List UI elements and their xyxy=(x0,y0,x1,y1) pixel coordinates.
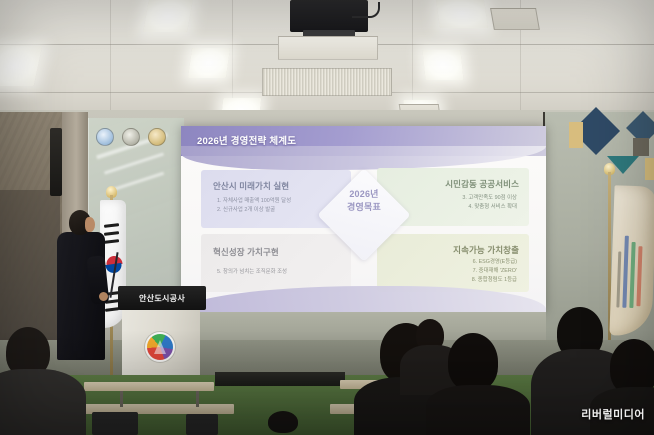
flag-stripe xyxy=(622,236,629,308)
quadrant-item: 2. 신규사업 2개 이상 발굴 xyxy=(217,206,291,215)
quadrant-item-list: 6. ESG경영(E등급) 7. 중대재해 'ZERO' 8. 종합청렴도 1등… xyxy=(472,258,517,285)
media-watermark: 리버럴미디어 xyxy=(581,406,645,422)
presentation-slide: 2026년 경영전략 체계도 안산시 미래가치 실현 1. 자체사업 매출액 1… xyxy=(181,126,546,312)
quadrant-title: 시민감동 공공서비스 xyxy=(445,178,519,190)
strategy-quadrant-bottom-right: 지속가능 가치창출 6. ESG경영(E등급) 7. 중대재해 'ZERO' 8… xyxy=(377,234,529,292)
ceiling-seam xyxy=(412,0,413,115)
audience-chair xyxy=(186,414,218,435)
quadrant-title: 안산시 미래가치 실현 xyxy=(213,180,289,192)
audience-head xyxy=(268,411,298,433)
ceiling-light-panel xyxy=(422,50,463,80)
flag-stripe xyxy=(629,242,635,308)
ceiling-seam xyxy=(110,0,111,115)
wall-decoration-bar xyxy=(633,138,649,156)
ceiling-light-panel xyxy=(188,48,230,78)
podium-sign-label: 안산도시공사 xyxy=(139,293,185,304)
quadrant-title: 혁신성장 가치구현 xyxy=(213,246,279,258)
audience-shoulders xyxy=(426,385,530,435)
wall-emblem-icon xyxy=(96,128,114,146)
quadrant-item: 7. 중대재해 'ZERO' xyxy=(472,267,517,276)
glass-reflection xyxy=(104,152,164,174)
wall-decoration-bar xyxy=(645,158,654,180)
flag-stripe xyxy=(636,246,642,306)
quadrant-item: 4. 맞춤형 서비스 확대 xyxy=(462,203,517,212)
audience-chair xyxy=(92,412,138,435)
quadrant-item: 8. 종합청렴도 1등급 xyxy=(472,276,517,285)
ceiling-light-panel xyxy=(436,0,488,28)
podium-name-sign: 안산도시공사 xyxy=(118,286,206,310)
ceiling-ac-unit xyxy=(262,68,392,96)
projector-housing xyxy=(278,36,378,60)
speaker-face xyxy=(85,217,95,232)
left-wall-shadow xyxy=(0,190,60,340)
glass-reflection xyxy=(112,172,164,192)
wall-speaker xyxy=(50,128,62,196)
stage-step xyxy=(215,372,345,386)
ceiling-light-panel xyxy=(0,46,42,86)
slide-header-wave xyxy=(181,146,546,170)
ceiling-light-panel xyxy=(143,0,193,32)
quadrant-item: 3. 고객만족도 90점 이상 xyxy=(462,194,517,203)
wall-emblem-icon xyxy=(122,128,140,146)
speaker-person xyxy=(55,210,107,360)
center-goal-text: 경영목표 xyxy=(331,201,397,214)
quadrant-item: 5. 창의가 넘치는 조직문화 조성 xyxy=(217,268,287,277)
center-goal-year: 2026년 xyxy=(331,188,397,201)
quadrant-item: 1. 자체사업 매출액 100억원 달성 xyxy=(217,197,291,206)
audience-shoulders xyxy=(0,369,86,435)
audience-table xyxy=(84,382,214,391)
corporate-flag xyxy=(609,185,654,336)
slide-title: 2026년 경영전략 체계도 xyxy=(197,133,296,147)
center-goal-label: 2026년 경영목표 xyxy=(331,188,397,214)
quadrant-item-list: 1. 자체사업 매출액 100억원 달성 2. 신규사업 2개 이상 발굴 xyxy=(217,197,291,215)
wall-emblem-icon xyxy=(148,128,166,146)
ceiling xyxy=(0,0,654,118)
table-leg xyxy=(196,391,199,407)
presentation-photo-scene: 2026년 경영전략 체계도 안산시 미래가치 실현 1. 자체사업 매출액 1… xyxy=(0,0,654,435)
strategy-quadrant-bottom-left: 혁신성장 가치구현 5. 창의가 넘치는 조직문화 조성 xyxy=(201,234,351,292)
flag-stripe xyxy=(616,251,621,307)
quadrant-item-list: 5. 창의가 넘치는 조직문화 조성 xyxy=(217,268,287,277)
quadrant-title: 지속가능 가치창출 xyxy=(453,244,519,256)
table-leg xyxy=(120,391,123,407)
ceiling-air-vent xyxy=(490,8,540,30)
flag-trigram-bar xyxy=(105,307,119,311)
speaker-hand xyxy=(99,292,108,301)
projector-cable xyxy=(352,2,380,18)
quadrant-item-list: 3. 고객만족도 90점 이상 4. 맞춤형 서비스 확대 xyxy=(462,194,517,212)
corporation-logo-icon xyxy=(147,334,173,360)
audience-head xyxy=(448,333,498,391)
wall-decoration-bar xyxy=(569,122,583,148)
projection-screen: 2026년 경영전략 체계도 안산시 미래가치 실현 1. 자체사업 매출액 1… xyxy=(181,126,546,312)
quadrant-item: 6. ESG경영(E등급) xyxy=(472,258,517,267)
